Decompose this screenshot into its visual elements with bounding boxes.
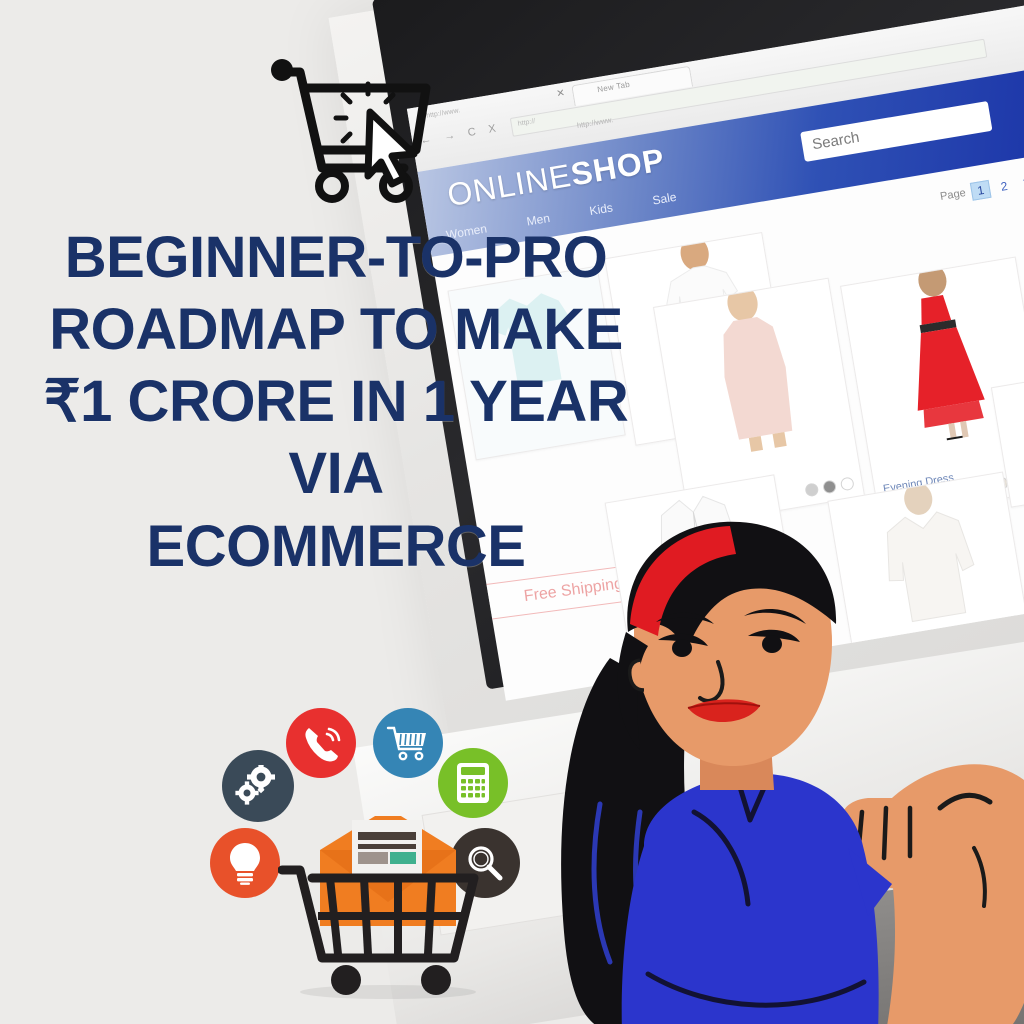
tab-close-icon[interactable]: ✕ [556, 88, 566, 100]
headline-line-3: ₹1 CRORE IN 1 YEAR [0, 372, 672, 431]
shopping-cart-icon[interactable] [373, 708, 443, 778]
nav-item-kids[interactable]: Kids [588, 200, 613, 218]
evening-dress-image [869, 258, 1015, 454]
headline-line-1: BEGINNER-TO-PRO [0, 228, 672, 287]
shopping-cart-click-icon [264, 56, 444, 206]
pagination-page-2[interactable]: 2 [995, 177, 1014, 196]
gears-icon[interactable] [222, 750, 294, 822]
shop-logo-light: ONLINE [445, 157, 574, 213]
browser-tab-label: New Tab [597, 80, 631, 94]
nav-item-sale[interactable]: Sale [651, 190, 677, 208]
url-text: http:// [517, 118, 535, 128]
headline-line-4: VIA [0, 444, 672, 503]
phone-call-icon[interactable] [286, 708, 356, 778]
swatch[interactable] [804, 482, 819, 497]
swatch[interactable] [822, 479, 837, 494]
headline-line-2: ROADMAP TO MAKE [0, 300, 672, 359]
poster-canvas: 14:23 http://www. New Tab ✕ ← → C X http… [0, 0, 1024, 1024]
cart-with-envelope-icon [278, 816, 498, 1001]
pagination-page-3[interactable]: 3 [1017, 173, 1024, 192]
flexing-woman-illustration [548, 512, 1024, 1024]
search-placeholder: Search [811, 129, 861, 154]
pagination-label: Page [939, 187, 966, 203]
product-swatches[interactable] [804, 476, 854, 497]
ecommerce-icon-cluster [210, 700, 540, 1000]
pagination-page-1[interactable]: 1 [970, 180, 991, 201]
calculator-icon[interactable] [438, 748, 508, 818]
lightbulb-icon[interactable] [210, 828, 280, 898]
swatch[interactable] [840, 476, 855, 491]
casual-dress-image [681, 279, 827, 464]
product-image [654, 279, 854, 464]
shop-logo-bold: SHOP [568, 141, 667, 192]
